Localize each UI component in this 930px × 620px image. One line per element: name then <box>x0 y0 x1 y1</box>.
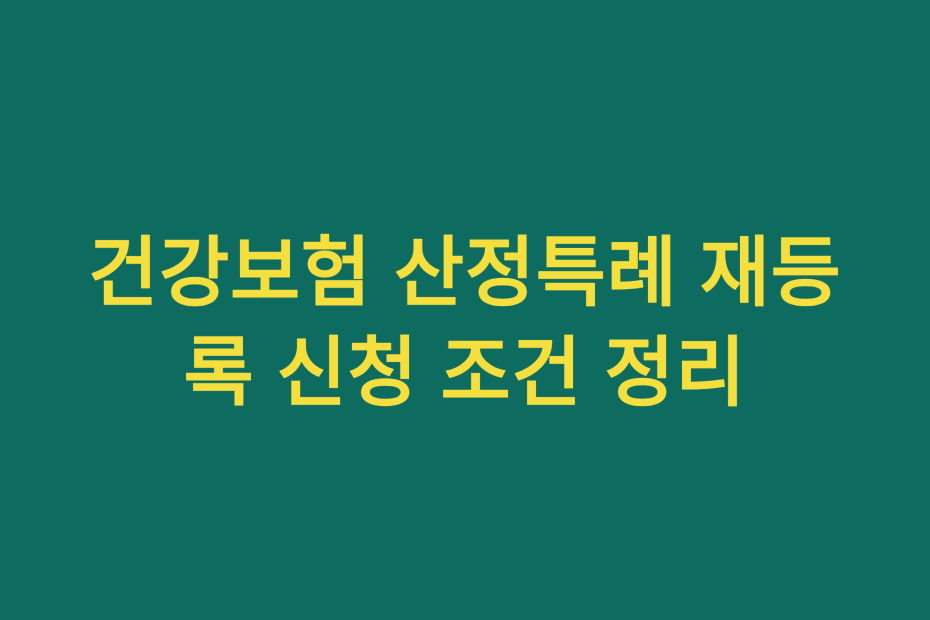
page-title: 건강보험 산정특례 재등 록 신청 조건 정리 <box>65 224 865 424</box>
thumbnail-card: 건강보험 산정특례 재등 록 신청 조건 정리 <box>0 0 930 620</box>
title-line-1: 건강보험 산정특례 재등 <box>65 224 865 324</box>
title-line-2: 록 신청 조건 정리 <box>65 324 865 424</box>
